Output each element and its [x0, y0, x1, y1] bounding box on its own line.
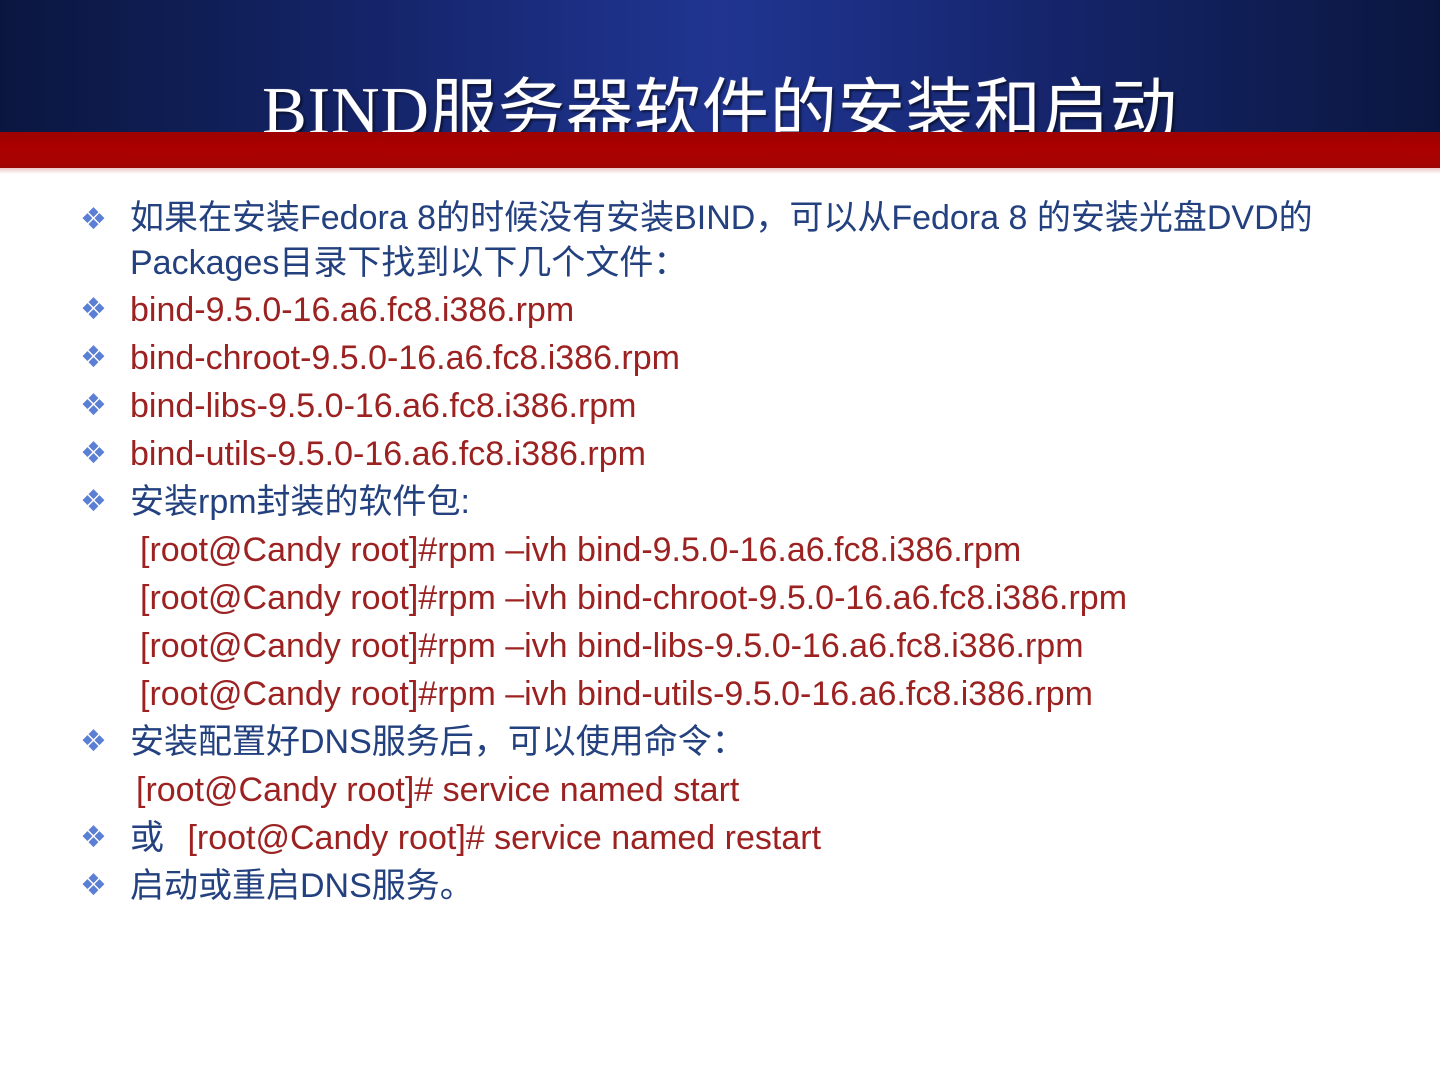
list-item: ❖ 或 [root@Candy root]# service named res… [0, 814, 1440, 862]
install-command: [root@Candy root]#rpm –ivh bind-libs-9.5… [0, 622, 1440, 670]
install-command: [root@Candy root]#rpm –ivh bind-9.5.0-16… [0, 526, 1440, 574]
install-command: [root@Candy root]#rpm –ivh bind-chroot-9… [0, 574, 1440, 622]
list-item: ❖ 安装rpm封装的软件包: [0, 478, 1440, 526]
list-item-label: 启动或重启DNS服务。 [130, 862, 1400, 910]
diamond-bullet-icon: ❖ [78, 814, 130, 862]
diamond-bullet-icon: ❖ [78, 382, 130, 430]
package-name: bind-utils-9.5.0-16.a6.fc8.i386.rpm [130, 430, 1400, 478]
list-item-label: 安装配置好DNS服务后，可以使用命令： [130, 718, 1400, 766]
diamond-bullet-icon: ❖ [78, 334, 130, 382]
list-item: ❖ bind-utils-9.5.0-16.a6.fc8.i386.rpm [0, 430, 1440, 478]
diamond-bullet-icon: ❖ [78, 196, 130, 244]
package-name: bind-libs-9.5.0-16.a6.fc8.i386.rpm [130, 382, 1400, 430]
diamond-bullet-icon: ❖ [78, 478, 130, 526]
service-restart-command: [root@Candy root]# service named restart [187, 819, 821, 857]
diamond-bullet-icon: ❖ [78, 430, 130, 478]
list-item: ❖ 启动或重启DNS服务。 [0, 862, 1440, 910]
package-name: bind-chroot-9.5.0-16.a6.fc8.i386.rpm [130, 334, 1400, 382]
diamond-bullet-icon: ❖ [78, 286, 130, 334]
slide-body: ❖ 如果在安装Fedora 8的时候没有安装BIND，可以从Fedora 8 的… [0, 196, 1440, 910]
list-item: ❖ 如果在安装Fedora 8的时候没有安装BIND，可以从Fedora 8 的… [0, 196, 1440, 286]
install-command: [root@Candy root]#rpm –ivh bind-utils-9.… [0, 670, 1440, 718]
list-item-label: 安装rpm封装的软件包: [130, 478, 1400, 526]
service-restart-line: 或 [root@Candy root]# service named resta… [130, 814, 1400, 862]
list-item: ❖ 安装配置好DNS服务后，可以使用命令： [0, 718, 1440, 766]
alternative-prefix: 或 [130, 819, 164, 857]
list-item-label: 如果在安装Fedora 8的时候没有安装BIND，可以从Fedora 8 的安装… [130, 196, 1400, 286]
diamond-bullet-icon: ❖ [78, 718, 130, 766]
list-item: ❖ bind-chroot-9.5.0-16.a6.fc8.i386.rpm [0, 334, 1440, 382]
service-start-command: [root@Candy root]# service named start [0, 766, 1440, 814]
list-item: ❖ bind-9.5.0-16.a6.fc8.i386.rpm [0, 286, 1440, 334]
diamond-bullet-icon: ❖ [78, 862, 130, 910]
package-name: bind-9.5.0-16.a6.fc8.i386.rpm [130, 286, 1400, 334]
list-item: ❖ bind-libs-9.5.0-16.a6.fc8.i386.rpm [0, 382, 1440, 430]
header-accent-rule [0, 132, 1440, 168]
slide: BIND服务器软件的安装和启动 ❖ 如果在安装Fedora 8的时候没有安装BI… [0, 0, 1440, 1080]
